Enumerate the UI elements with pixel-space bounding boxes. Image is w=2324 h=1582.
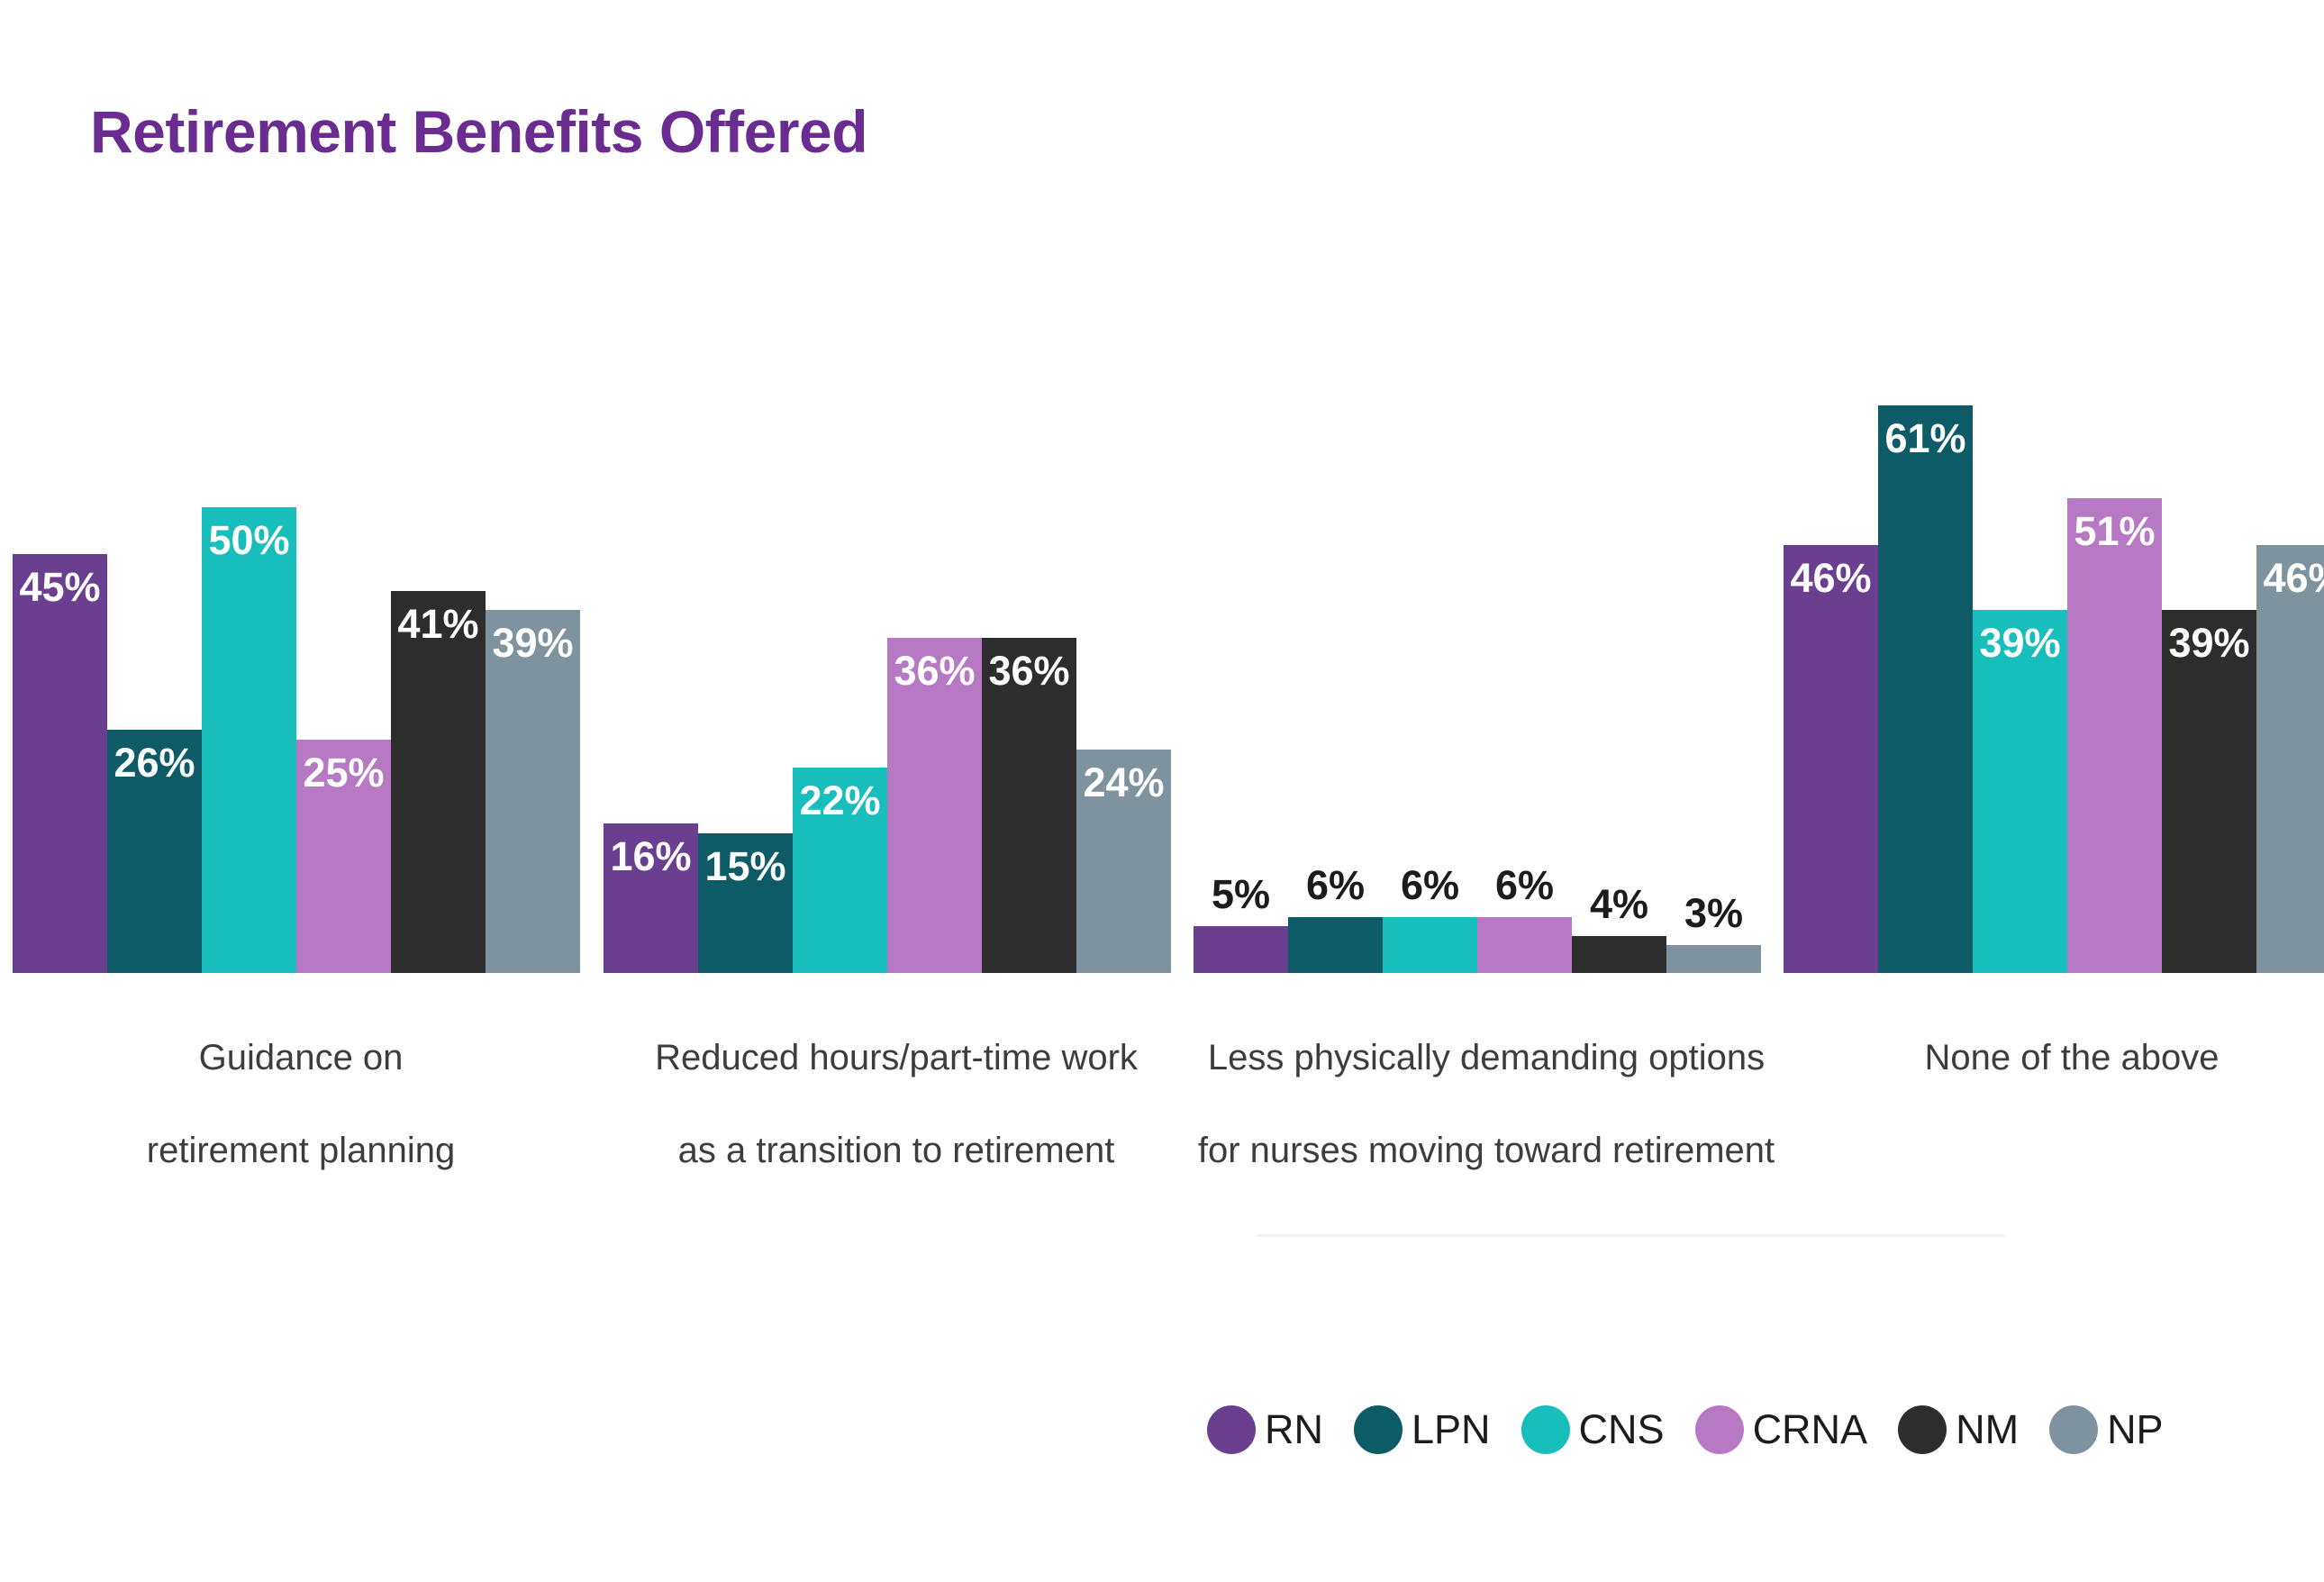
bar-value-label: 5% [1194, 874, 1288, 914]
category-label-line1: None of the above [1784, 1035, 2324, 1081]
bar-wrap-cns: 39% [1973, 297, 2067, 973]
category-label-line2: for nurses moving toward retirement [1157, 1128, 1815, 1174]
legend-item-np[interactable]: NP [2049, 1405, 2164, 1454]
bar-wrap-crna: 6% [1477, 297, 1572, 973]
legend-swatch-icon [2049, 1405, 2098, 1454]
bar-value-label: 3% [1666, 893, 1761, 933]
page-title: Retirement Benefits Offered [90, 97, 867, 166]
bar-wrap-np: 46% [2256, 297, 2324, 973]
bar-lpn[interactable]: 15% [698, 833, 793, 973]
bar-value-label: 15% [698, 846, 793, 886]
bar-value-label: 6% [1383, 865, 1477, 905]
bar-value-label: 25% [296, 752, 391, 793]
bar-cns[interactable]: 39% [1973, 610, 2067, 973]
bar-lpn[interactable]: 6% [1288, 917, 1383, 973]
chart-page: Retirement Benefits Offered 45% 26% 50% [0, 0, 2324, 1582]
legend-item-nm[interactable]: NM [1898, 1405, 2019, 1454]
bar-group-none-of-the-above: 46% 61% 39% 51% 39% [1784, 297, 2324, 973]
bar-value-label: 22% [793, 780, 887, 821]
bar-value-label: 39% [2162, 623, 2256, 663]
bar-rn[interactable]: 5% [1194, 926, 1288, 973]
bar-crna[interactable]: 51% [2067, 498, 2162, 973]
bar-np[interactable]: 24% [1076, 750, 1171, 973]
bar-wrap-np: 3% [1666, 297, 1761, 973]
bar-wrap-rn: 46% [1784, 297, 1878, 973]
bar-wrap-lpn: 26% [107, 297, 202, 973]
category-label-guidance: Guidance on retirement planning [13, 989, 589, 1220]
bar-value-label: 36% [887, 650, 982, 691]
legend-swatch-icon [1354, 1405, 1403, 1454]
bar-rn[interactable]: 46% [1784, 545, 1878, 973]
legend-item-rn[interactable]: RN [1207, 1405, 1323, 1454]
bar-wrap-rn: 5% [1194, 297, 1288, 973]
legend-label: CNS [1579, 1406, 1665, 1453]
bar-group-less-demanding: 5% 6% 6% 6% 4% [1194, 297, 1770, 973]
bar-value-label: 24% [1076, 762, 1171, 803]
bar-wrap-cns: 50% [202, 297, 296, 973]
bar-value-label: 46% [1784, 558, 1878, 598]
bar-nm[interactable]: 41% [391, 591, 486, 973]
legend-label: NM [1956, 1406, 2019, 1453]
bar-value-label: 26% [107, 742, 202, 783]
bar-group-guidance: 45% 26% 50% 25% 41% [13, 297, 589, 973]
bar-nm[interactable]: 36% [982, 638, 1076, 973]
legend-item-lpn[interactable]: LPN [1354, 1405, 1491, 1454]
category-label-none-of-the-above: None of the above [1784, 989, 2324, 1174]
bar-wrap-crna: 25% [296, 297, 391, 973]
category-label-reduced-hours: Reduced hours/part-time work as a transi… [586, 989, 1207, 1220]
bar-wrap-cns: 6% [1383, 297, 1477, 973]
bar-crna[interactable]: 6% [1477, 917, 1572, 973]
legend-swatch-icon [1695, 1405, 1744, 1454]
bar-value-label: 36% [982, 650, 1076, 691]
bar-wrap-crna: 36% [887, 297, 982, 973]
bar-np[interactable]: 46% [2256, 545, 2324, 973]
bar-value-label: 6% [1477, 865, 1572, 905]
bar-cns[interactable]: 6% [1383, 917, 1477, 973]
bar-value-label: 39% [1973, 623, 2067, 663]
bar-value-label: 61% [1878, 418, 1973, 459]
bar-value-label: 39% [486, 623, 580, 663]
bar-wrap-rn: 16% [604, 297, 698, 973]
bar-wrap-crna: 51% [2067, 297, 2162, 973]
bar-wrap-nm: 39% [2162, 297, 2256, 973]
bar-lpn[interactable]: 26% [107, 730, 202, 973]
bar-value-label: 46% [2256, 558, 2324, 598]
legend-label: NP [2107, 1406, 2164, 1453]
bar-rn[interactable]: 45% [13, 554, 107, 973]
legend-label: CRNA [1753, 1406, 1868, 1453]
legend-item-crna[interactable]: CRNA [1695, 1405, 1868, 1454]
bar-wrap-np: 39% [486, 297, 580, 973]
legend-swatch-icon [1207, 1405, 1256, 1454]
bar-wrap-nm: 4% [1572, 297, 1666, 973]
bar-wrap-cns: 22% [793, 297, 887, 973]
bar-crna[interactable]: 36% [887, 638, 982, 973]
legend-label: LPN [1412, 1406, 1491, 1453]
legend-item-cns[interactable]: CNS [1521, 1405, 1665, 1454]
bar-wrap-nm: 36% [982, 297, 1076, 973]
bar-nm[interactable]: 39% [2162, 610, 2256, 973]
category-label-less-demanding: Less physically demanding options for nu… [1157, 989, 1815, 1220]
divider-artifact [1257, 1234, 2004, 1237]
bar-wrap-np: 24% [1076, 297, 1171, 973]
bar-wrap-lpn: 61% [1878, 297, 1973, 973]
bar-value-label: 16% [604, 836, 698, 877]
bar-value-label: 4% [1572, 884, 1666, 924]
bar-rn[interactable]: 16% [604, 823, 698, 973]
bar-value-label: 45% [13, 567, 107, 607]
category-label-line2: retirement planning [13, 1128, 589, 1174]
plot-area: 45% 26% 50% 25% 41% [0, 297, 2324, 973]
bar-cns[interactable]: 50% [202, 507, 296, 973]
bar-value-label: 41% [391, 604, 486, 644]
bar-nm[interactable]: 4% [1572, 936, 1666, 973]
bar-crna[interactable]: 25% [296, 740, 391, 973]
category-label-line1: Guidance on [13, 1035, 589, 1081]
bar-value-label: 6% [1288, 865, 1383, 905]
bar-wrap-lpn: 6% [1288, 297, 1383, 973]
category-label-line2: as a transition to retirement [586, 1128, 1207, 1174]
bar-lpn[interactable]: 61% [1878, 405, 1973, 973]
bar-np[interactable]: 39% [486, 610, 580, 973]
bar-wrap-rn: 45% [13, 297, 107, 973]
bar-group-reduced-hours: 16% 15% 22% 36% 36% [604, 297, 1180, 973]
legend-swatch-icon [1898, 1405, 1947, 1454]
bar-wrap-lpn: 15% [698, 297, 793, 973]
bar-wrap-nm: 41% [391, 297, 486, 973]
legend: RN LPN CNS CRNA NM NP [1207, 1405, 2164, 1454]
category-label-line1: Reduced hours/part-time work [586, 1035, 1207, 1081]
legend-label: RN [1265, 1406, 1323, 1453]
legend-swatch-icon [1521, 1405, 1570, 1454]
category-label-line1: Less physically demanding options [1157, 1035, 1815, 1081]
bar-value-label: 50% [202, 520, 296, 560]
bar-cns[interactable]: 22% [793, 768, 887, 973]
bar-value-label: 51% [2067, 511, 2162, 551]
bar-np[interactable]: 3% [1666, 945, 1761, 973]
